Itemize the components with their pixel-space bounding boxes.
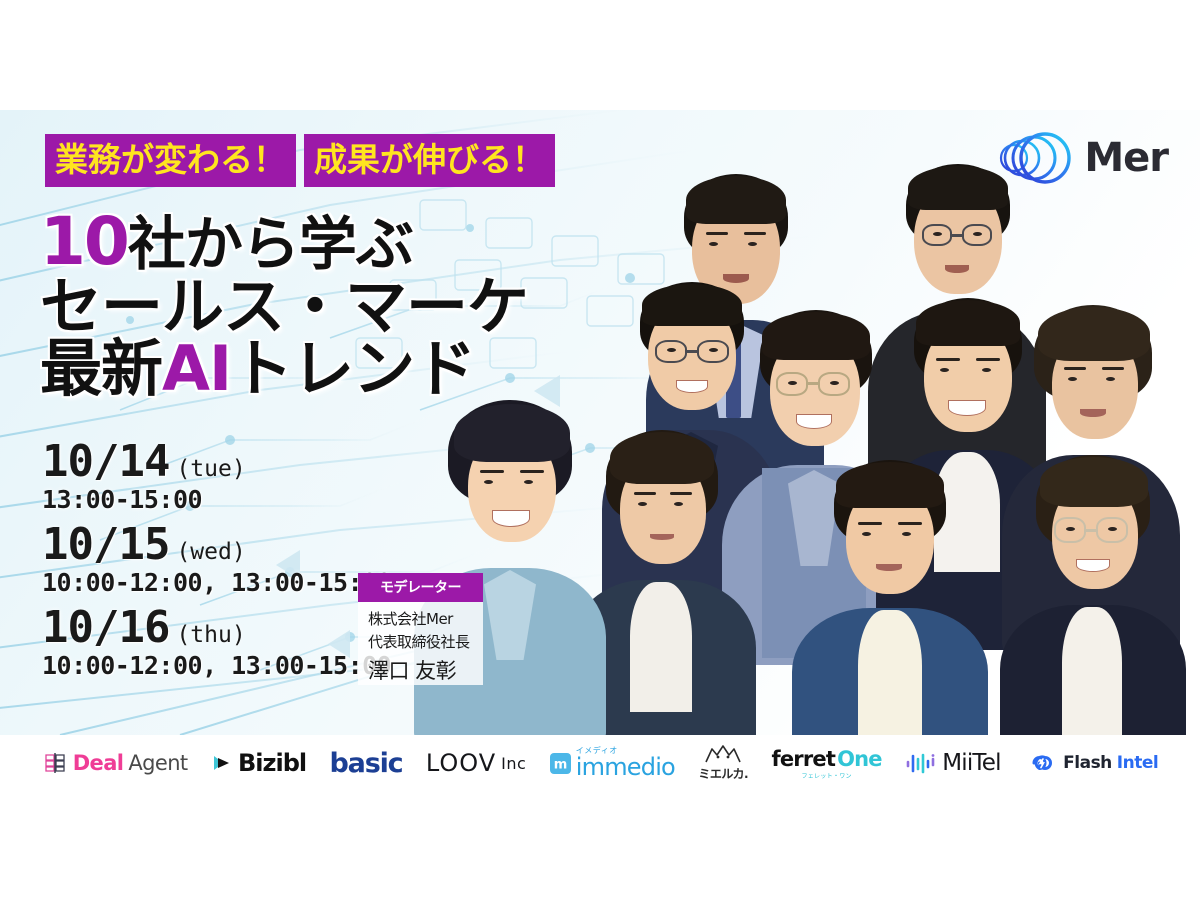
mer-brand-logo: Mer (990, 132, 1168, 184)
miitel-text: MiiTel (942, 750, 1001, 776)
dealagent-deal-text: Deal (73, 751, 124, 775)
event-title: 10社から学ぶ セールス・マーケ 最新AIトレンド (40, 208, 528, 402)
mer-brand-name: Mer (1084, 135, 1168, 181)
date-row: 10/16 (thu) (42, 606, 391, 650)
title-line-1: 10社から学ぶ (40, 208, 528, 277)
basic-text: basic (330, 748, 403, 779)
date-dayofweek: (thu) (176, 622, 245, 648)
headline-badges: 業務が変わる！ 成果が伸びる！ (45, 134, 555, 187)
bizibl-text: Bizibl (238, 749, 306, 777)
title-line-3-pre: 最新 (40, 332, 162, 405)
date-value: 10/15 (42, 523, 169, 567)
intel-text: Intel (1117, 753, 1158, 773)
partner-logo-ferretone[interactable]: ferret One フェレット・ワン (772, 747, 882, 780)
headline-badge-2: 成果が伸びる！ (304, 134, 555, 187)
ferret-text: ferret (772, 747, 836, 771)
title-line-2: セールス・マーケ (40, 275, 528, 339)
loov-inc-suffix: Inc (501, 754, 526, 773)
event-banner: 業務が変わる！ 成果が伸びる！ 10社から学ぶ セールス・マーケ 最新AIトレン… (0, 110, 1200, 735)
mieruka-text: ミエルカ. (698, 765, 748, 782)
immedio-square-icon: m (550, 753, 571, 774)
loov-text: LOOV (426, 749, 496, 777)
date-dayofweek: (wed) (176, 539, 245, 565)
overlapping-circles-icon (990, 132, 1072, 184)
partner-logo-dealagent[interactable]: DealAgent (42, 751, 188, 775)
title-ai-accent: AI (162, 332, 231, 405)
ferret-one-text: One (837, 747, 882, 771)
speakers-photo-collage (520, 110, 1200, 735)
date-value: 10/16 (42, 606, 169, 650)
date-times: 13:00-15:00 (42, 485, 391, 514)
date-row: 10/15 (wed) (42, 523, 391, 567)
waveform-icon (905, 752, 937, 774)
partner-logo-bar: DealAgent Bizibl basic LOOV Inc m イメディオ … (0, 735, 1200, 791)
title-line-3: 最新AIトレンド (40, 337, 528, 401)
date-block: 10/14 (tue) 13:00-15:00 (42, 440, 391, 514)
moderator-name: 澤口 友彰 (358, 655, 483, 685)
moderator-role: 代表取締役社長 (358, 631, 483, 652)
event-dates-list: 10/14 (tue) 13:00-15:00 10/15 (wed) 10:0… (42, 440, 391, 689)
date-value: 10/14 (42, 440, 169, 484)
date-dayofweek: (tue) (176, 456, 245, 482)
moderator-label: モデレーター (358, 573, 483, 602)
partner-logo-flashintel[interactable]: FlashIntel (1024, 752, 1158, 774)
dealagent-mark-icon (42, 751, 68, 775)
date-block: 10/16 (thu) 10:00-12:00, 13:00-15:00 (42, 606, 391, 680)
poster-page: 業務が変わる！ 成果が伸びる！ 10社から学ぶ セールス・マーケ 最新AIトレン… (0, 0, 1200, 900)
date-row: 10/14 (tue) (42, 440, 391, 484)
title-line-1-rest: 社から学ぶ (128, 210, 413, 278)
speaker-photo (998, 455, 1188, 735)
headline-badge-1: 業務が変わる！ (45, 134, 296, 187)
infinity-icon (1024, 752, 1058, 774)
cat-face-icon (703, 744, 743, 764)
immedio-text: immedio (576, 755, 675, 779)
play-triangle-icon (211, 752, 233, 774)
svg-text:m: m (553, 757, 567, 772)
title-line-3-post: トレンド (231, 332, 475, 405)
date-times: 10:00-12:00, 13:00-15:00 (42, 651, 391, 680)
partner-logo-bizibl[interactable]: Bizibl (211, 749, 306, 777)
partner-logo-mieruka[interactable]: ミエルカ. (698, 744, 748, 782)
dealagent-agent-text: Agent (128, 751, 187, 775)
partner-logo-loov[interactable]: LOOV Inc (426, 749, 526, 777)
date-block: 10/15 (wed) 10:00-12:00, 13:00-15:00 (42, 523, 391, 597)
flash-text: Flash (1063, 753, 1112, 773)
partner-logo-miitel[interactable]: MiiTel (905, 750, 1001, 776)
ferret-kana: フェレット・ワン (801, 771, 851, 780)
title-number-10: 10 (40, 203, 128, 280)
moderator-card: モデレーター 株式会社Mer 代表取締役社長 澤口 友彰 (358, 573, 483, 685)
partner-logo-basic[interactable]: basic (330, 748, 403, 779)
speaker-photo (790, 460, 990, 735)
date-times: 10:00-12:00, 13:00-15:00 (42, 568, 391, 597)
partner-logo-immedio[interactable]: m イメディオ immedio (550, 747, 675, 779)
moderator-company: 株式会社Mer (358, 608, 483, 629)
